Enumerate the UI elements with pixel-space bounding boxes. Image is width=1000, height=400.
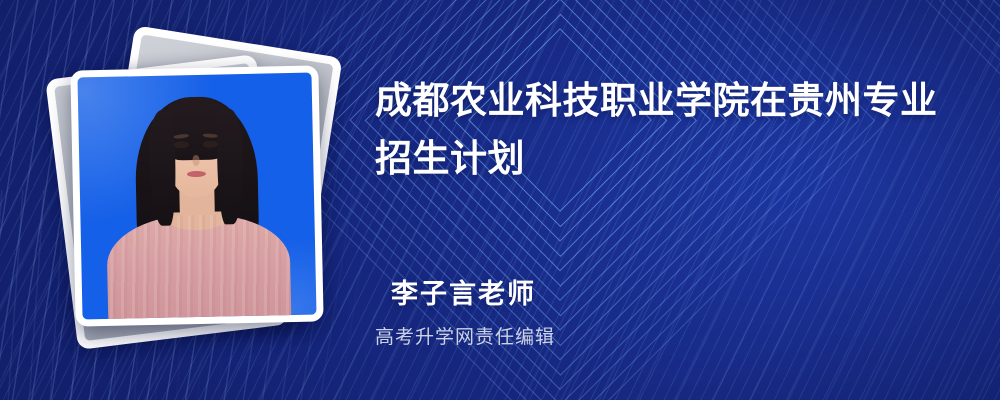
author-name: 李子言老师 bbox=[391, 272, 536, 311]
article-header-banner: 成都农业科技职业学院在贵州专业招生计划 李子言老师 高考升学网责任编辑 bbox=[0, 0, 1000, 400]
photo-card-stack bbox=[55, 40, 355, 360]
portrait-dress-texture bbox=[106, 213, 291, 319]
banner-content: 成都农业科技职业学院在贵州专业招生计划 李子言老师 高考升学网责任编辑 bbox=[375, 0, 975, 400]
page-title: 成都农业科技职业学院在贵州专业招生计划 bbox=[375, 72, 955, 188]
portrait-figure bbox=[77, 73, 316, 320]
portrait-eye-right bbox=[203, 141, 218, 148]
photo-card-front bbox=[70, 65, 323, 326]
author-role: 高考升学网责任编辑 bbox=[375, 322, 555, 349]
author-photo bbox=[77, 73, 316, 320]
portrait-eye-left bbox=[174, 141, 189, 148]
portrait-dress bbox=[106, 213, 291, 319]
